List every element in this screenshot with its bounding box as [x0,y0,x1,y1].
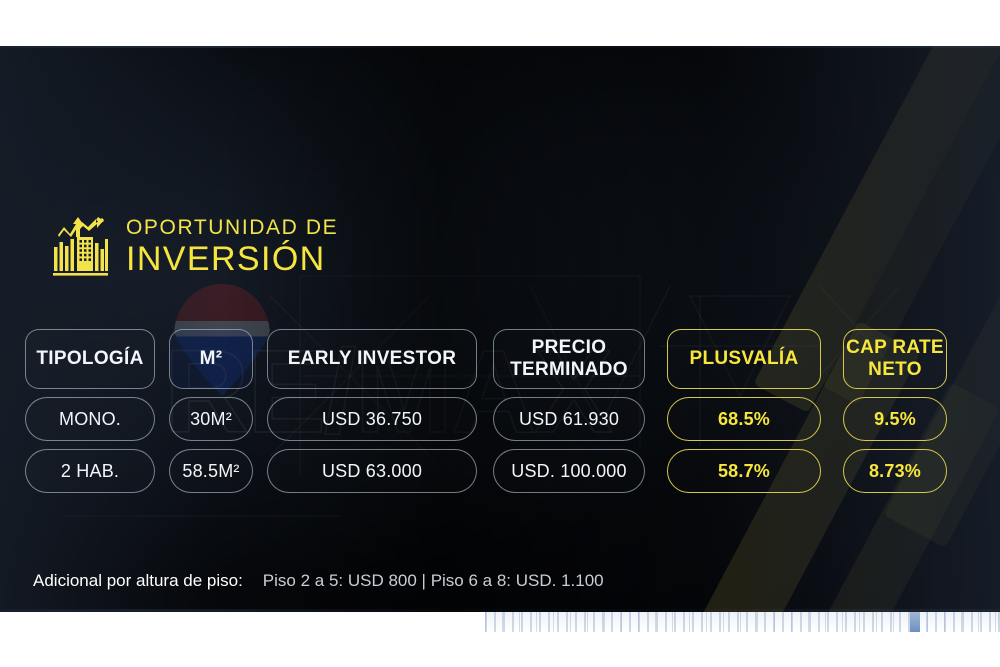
cell-plusvalia: 68.5% [667,397,821,441]
header-cap-rate-line1: CAP RATE [846,337,944,358]
cell-precio-terminado: USD. 100.000 [493,449,645,493]
cell-m2: 30M² [169,397,253,441]
cell-tipologia: 2 HAB. [25,449,155,493]
header-plusvalia: PLUSVALÍA [667,329,821,389]
footer-label: Adicional por altura de piso: [33,571,243,591]
header-tipologia: TIPOLOGÍA [25,329,155,389]
screenshot-root: RE/MAX [0,0,1000,667]
footer-value: Piso 2 a 5: USD 800 | Piso 6 a 8: USD. 1… [263,571,604,591]
investment-buildings-chart-icon [50,213,110,279]
cell-cap-rate-neto: 9.5% [843,397,947,441]
brand-header: OPORTUNIDAD DE INVERSIÓN [50,213,338,279]
brand-line-2: INVERSIÓN [126,242,338,276]
cell-plusvalia: 58.7% [667,449,821,493]
cell-m2: 58.5M² [169,449,253,493]
underlying-photo-strip [485,612,1000,632]
header-precio-terminado-line1: PRECIO [532,337,607,358]
header-cap-rate-neto: CAP RATE NETO [843,329,947,389]
cell-cap-rate-neto: 8.73% [843,449,947,493]
cell-tipologia: MONO. [25,397,155,441]
pricing-table: TIPOLOGÍA M² EARLY INVESTOR PRECIO TERMI… [25,329,975,493]
header-precio-terminado: PRECIO TERMINADO [493,329,645,389]
header-m2: M² [169,329,253,389]
cell-early-investor: USD 36.750 [267,397,477,441]
table-header-row: TIPOLOGÍA M² EARLY INVESTOR PRECIO TERMI… [25,329,975,389]
brand-line-1: OPORTUNIDAD DE [126,217,338,242]
table-row: MONO. 30M² USD 36.750 USD 61.930 68.5% 9… [25,397,975,441]
investment-opportunity-slide: RE/MAX [0,46,1000,612]
table-row: 2 HAB. 58.5M² USD 63.000 USD. 100.000 58… [25,449,975,493]
header-early-investor: EARLY INVESTOR [267,329,477,389]
floor-height-surcharge-note: Adicional por altura de piso: Piso 2 a 5… [33,571,604,591]
header-cap-rate-line2: NETO [868,359,922,380]
header-precio-terminado-line2: TERMINADO [510,359,628,380]
cell-early-investor: USD 63.000 [267,449,477,493]
cell-precio-terminado: USD 61.930 [493,397,645,441]
